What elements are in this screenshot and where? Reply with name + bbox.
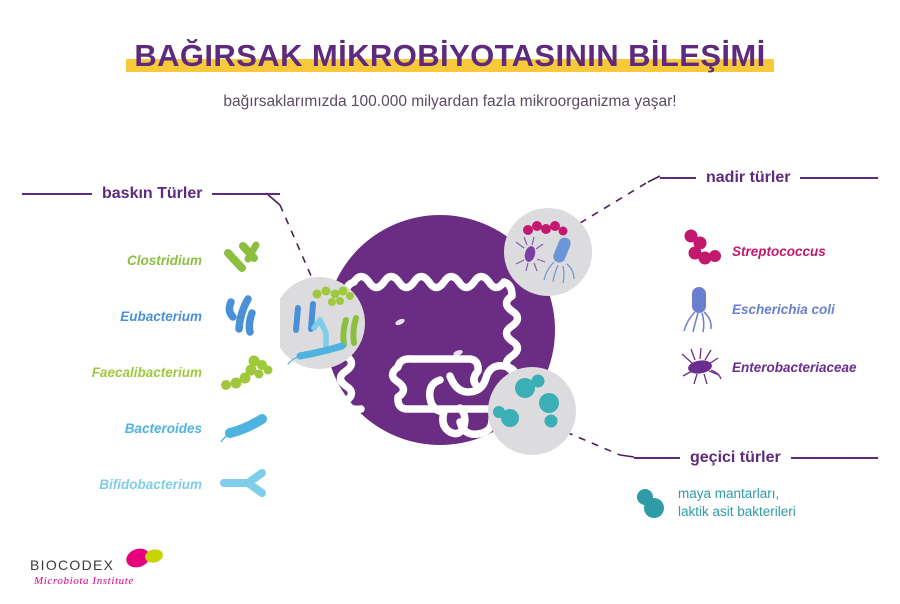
bifid-y-icon [218,459,274,509]
rod-pair-green-icon [218,235,274,285]
list-item: Faecalibacterium [24,344,274,400]
transient-species-list: maya mantarları, laktik asit bakterileri [630,483,796,523]
transient-species-bubble [488,367,576,455]
title-text: BAĞIRSAK MİKROBİYOTASININ BİLEŞİMİ [134,38,765,74]
flagellated-rod-purple-icon [678,341,724,393]
species-label: Escherichia coli [724,302,835,317]
list-item: Enterobacteriaceae [678,338,898,396]
rare-species-bubble [504,208,592,296]
species-label: Streptococcus [724,244,826,259]
section-header-transient: geçici türler [634,449,878,467]
page-title: BAĞIRSAK MİKROBİYOTASININ BİLEŞİMİ [0,38,900,74]
budding-yeast-teal-icon [630,483,670,523]
list-item: Bifidobacterium [24,456,274,512]
rule-left [22,193,92,195]
rule-left [634,457,680,459]
rod-pair-blue-icon [218,291,274,341]
dominant-species-list: Clostridium Eubacterium Faecalibacte [24,232,274,512]
species-label: maya mantarları, laktik asit bakterileri [670,485,796,521]
rod-cyan-icon [218,403,274,453]
species-label: Bacteroides [125,421,218,436]
rule-right [800,177,878,179]
section-label-transient: geçici türler [680,449,791,467]
subtitle-text: bağırsaklarımızda 100.000 milyardan fazl… [0,93,900,111]
list-item: Clostridium [24,232,274,288]
species-label: Bifidobacterium [99,477,218,492]
section-header-rare: nadir türler [660,169,878,187]
gut-illustration [280,190,600,480]
list-item: Escherichia coli [678,280,898,338]
rule-right [212,193,280,195]
rare-species-list: Streptococcus Escherichia coli [678,222,898,396]
flagellated-rod-blue-icon [678,283,724,335]
species-label: Faecalibacterium [92,365,218,380]
cocci-chain-green-icon [218,347,274,397]
section-label-dominant: baskın Türler [92,185,212,203]
rule-right [791,457,878,459]
species-label: Clostridium [127,253,218,268]
logo-brand-text: BIOCODEX [30,557,114,573]
species-label: Enterobacteriaceae [724,360,857,375]
cocci-chain-magenta-icon [678,225,724,277]
list-item: Streptococcus [678,222,898,280]
section-label-rare: nadir türler [696,169,800,187]
biocodex-logo: BIOCODEX Microbiota Institute [28,548,178,592]
rule-left [660,177,696,179]
section-header-dominant: baskın Türler [22,185,280,203]
list-item: Eubacterium [24,288,274,344]
infographic-canvas: BAĞIRSAK MİKROBİYOTASININ BİLEŞİMİ bağır… [0,0,900,604]
logo-tagline-text: Microbiota Institute [33,575,134,587]
list-item: Bacteroides [24,400,274,456]
species-label: Eubacterium [120,309,218,324]
